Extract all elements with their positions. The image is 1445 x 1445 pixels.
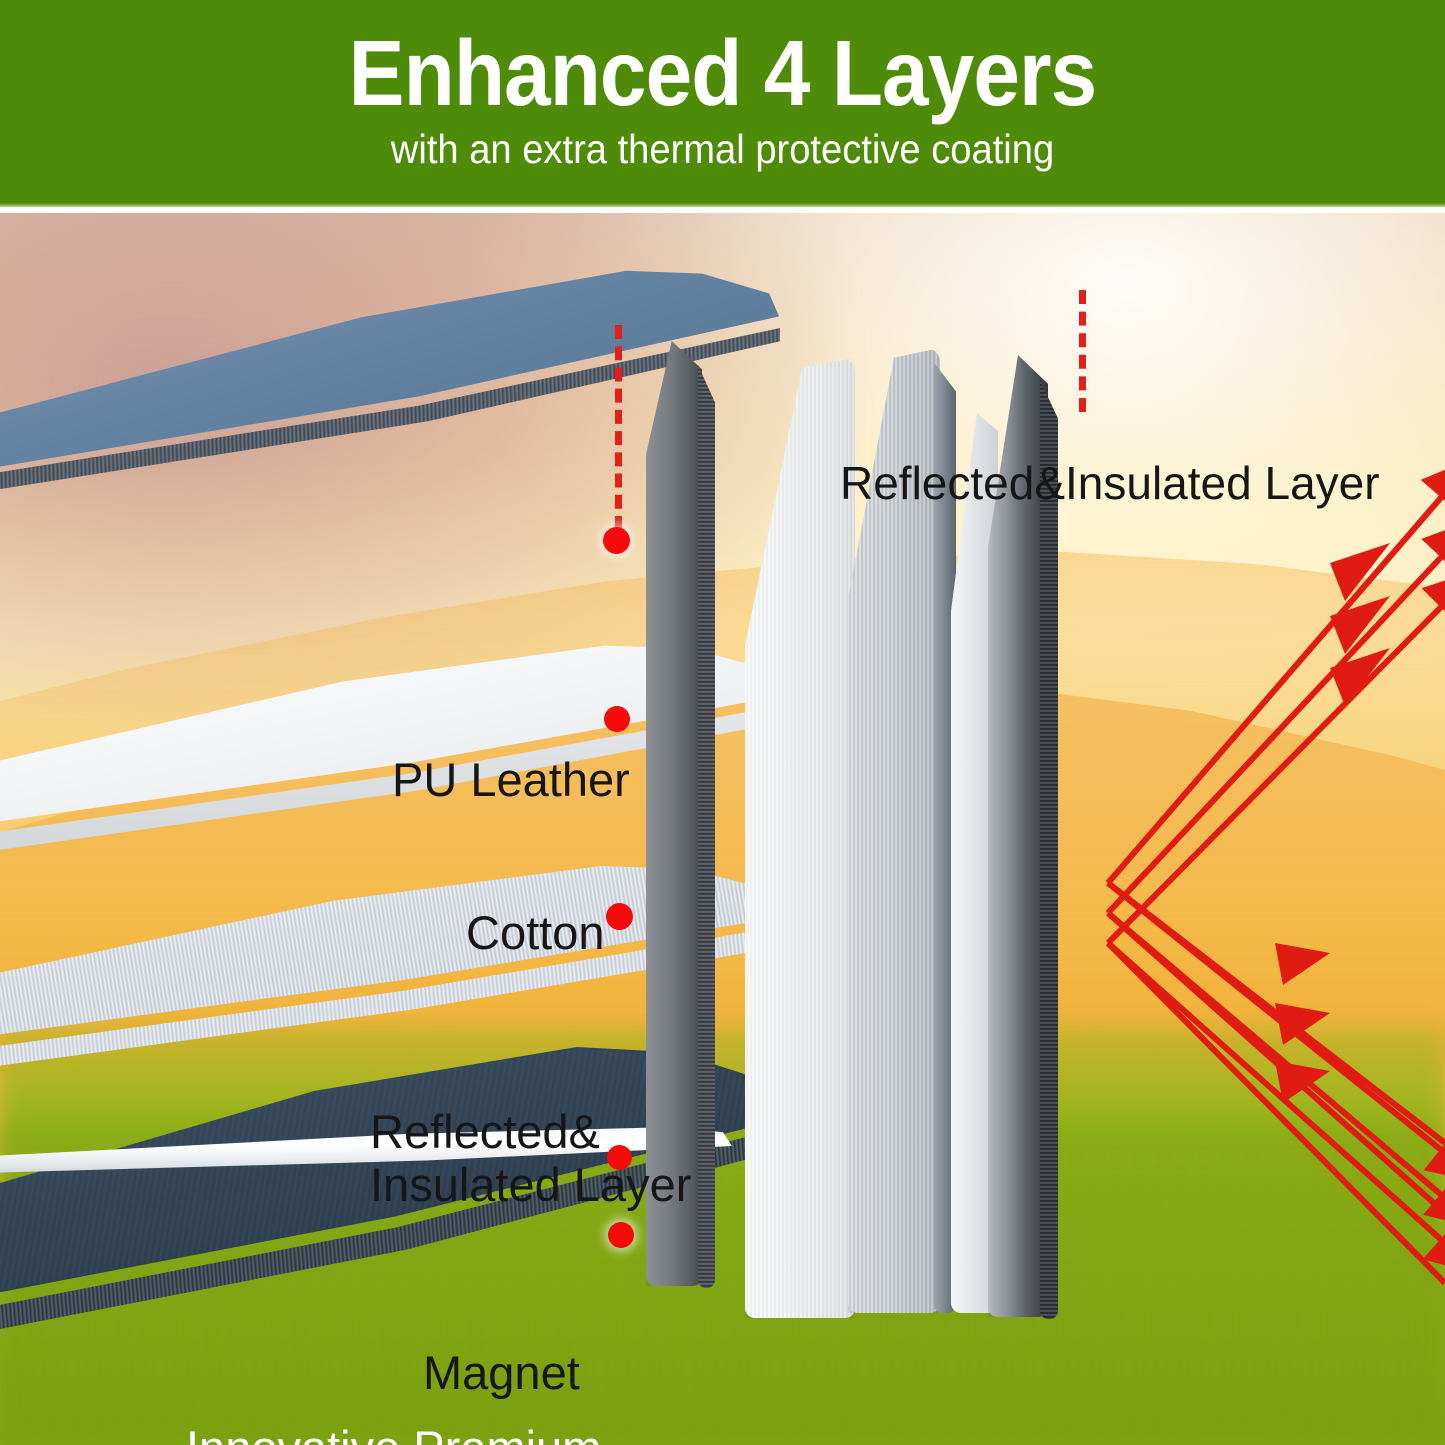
marker-dot-innovative-premium-fabric: [608, 1222, 634, 1248]
banner-bottom-edge: [0, 203, 1445, 207]
product-infographic: Enhanced 4 Layers with an extra thermal …: [0, 0, 1445, 1445]
page-title: Enhanced 4 Layers: [72, 26, 1373, 121]
layer-label-magnet: Magnet: [423, 1347, 580, 1400]
vertical-panel-1-edge: [698, 346, 715, 1288]
layer-label-reflected-insulated: Reflected& Insulated Layer: [370, 1106, 691, 1211]
header-banner: Enhanced 4 Layers with an extra thermal …: [0, 0, 1445, 207]
panel-stack-label-reflected-insulated-layer: Reflected&Insulated Layer: [840, 458, 1380, 510]
leader-line-reflected-insulated-layer: [1079, 290, 1086, 412]
layer-label-innovative-premium-fabric: Innovative Premium Fabric: [186, 1422, 601, 1445]
marker-dot-cotton: [604, 706, 630, 732]
page-subtitle: with an extra thermal protective coating: [51, 128, 1395, 171]
leader-line-pu-leather: [615, 325, 622, 530]
layer-label-cotton: Cotton: [466, 907, 604, 960]
marker-dot-pu-leather: [603, 527, 630, 554]
layer-label-pu-leather: PU Leather: [392, 754, 630, 807]
scene-photo: PU Leather Cotton Reflected& Insulated L…: [0, 213, 1445, 1445]
marker-dot-reflected-insulated: [606, 903, 633, 930]
